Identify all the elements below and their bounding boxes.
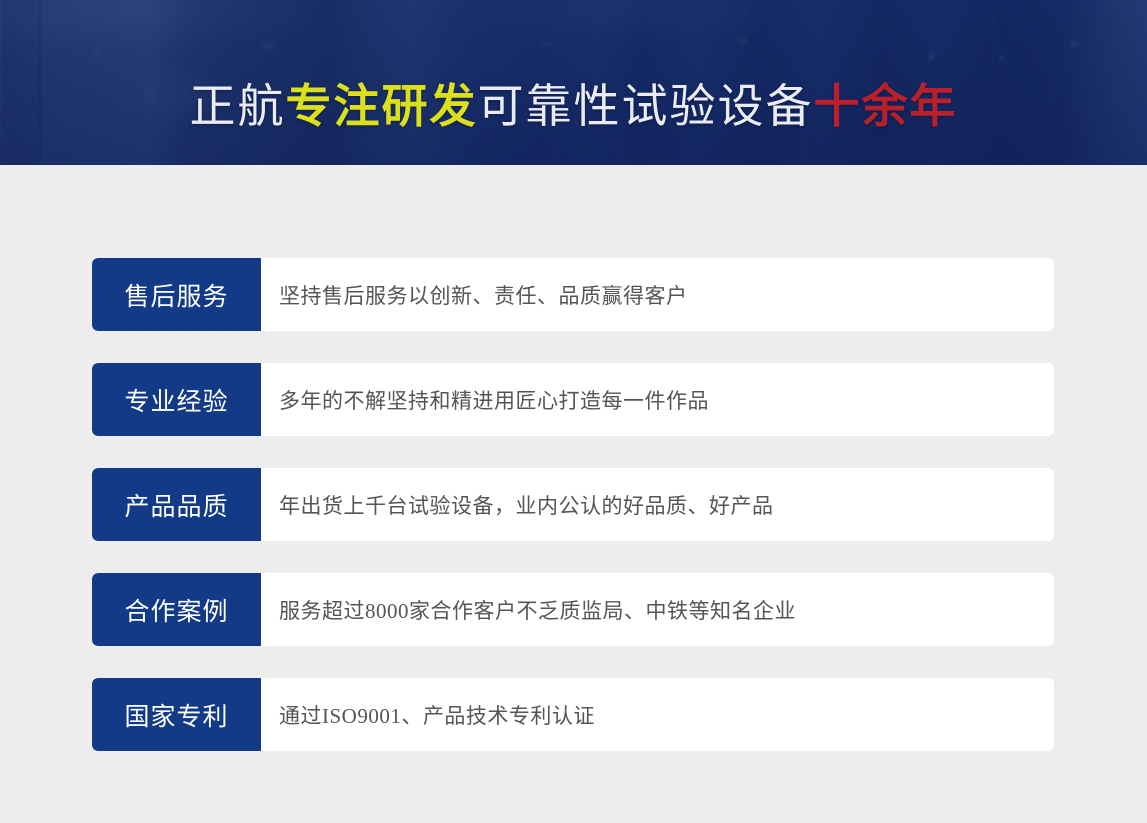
- feature-tag-experience: 专业经验: [92, 363, 261, 436]
- list-item[interactable]: 专业经验 多年的不解坚持和精进用匠心打造每一件作品: [92, 363, 1054, 436]
- feature-tag-quality: 产品品质: [92, 468, 261, 541]
- list-item[interactable]: 产品品质 年出货上千台试验设备，业内公认的好品质、好产品: [92, 468, 1054, 541]
- feature-description: 通过ISO9001、产品技术专利认证: [261, 678, 1054, 751]
- feature-description: 年出货上千台试验设备，业内公认的好品质、好产品: [261, 468, 1054, 541]
- feature-tag-cases: 合作案例: [92, 573, 261, 646]
- feature-list: 售后服务 坚持售后服务以创新、责任、品质赢得客户 专业经验 多年的不解坚持和精进…: [92, 258, 1054, 783]
- feature-tag-patent: 国家专利: [92, 678, 261, 751]
- title-segment-highlight-yellow: 专注研发: [286, 81, 478, 132]
- list-item[interactable]: 国家专利 通过ISO9001、产品技术专利认证: [92, 678, 1054, 751]
- hero-banner: 正航专注研发可靠性试验设备十余年: [0, 0, 1147, 165]
- feature-description: 坚持售后服务以创新、责任、品质赢得客户: [261, 258, 1054, 331]
- feature-description: 多年的不解坚持和精进用匠心打造每一件作品: [261, 363, 1054, 436]
- feature-tag-after-sales: 售后服务: [92, 258, 261, 331]
- feature-description: 服务超过8000家合作客户不乏质监局、中铁等知名企业: [261, 573, 1054, 646]
- title-segment-plain-1: 正航: [190, 81, 286, 132]
- title-segment-plain-2: 可靠性试验设备: [478, 81, 814, 132]
- list-item[interactable]: 合作案例 服务超过8000家合作客户不乏质监局、中铁等知名企业: [92, 573, 1054, 646]
- list-item[interactable]: 售后服务 坚持售后服务以创新、责任、品质赢得客户: [92, 258, 1054, 331]
- page-title: 正航专注研发可靠性试验设备十余年: [0, 83, 1147, 131]
- title-segment-highlight-red: 十余年: [814, 81, 958, 132]
